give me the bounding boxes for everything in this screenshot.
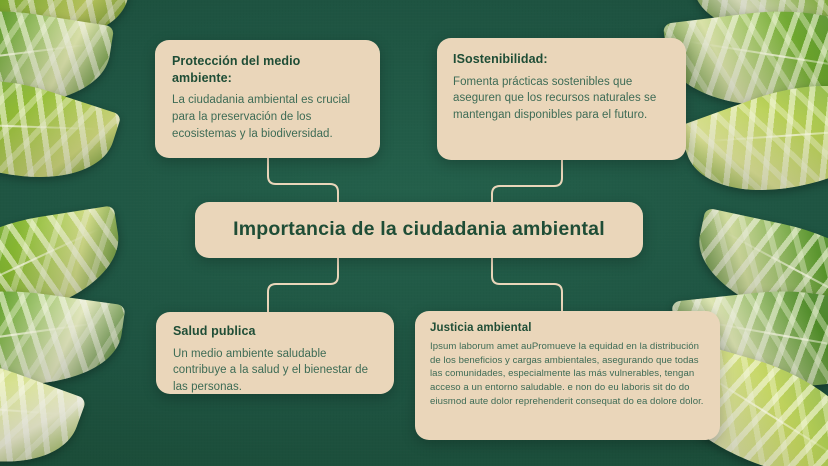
connector-center-to-justicia	[492, 258, 562, 311]
node-card-salud-publica[interactable]: Salud publica Un medio ambiente saludabl…	[156, 312, 394, 394]
central-node-card[interactable]: Importancia de la ciudadania ambiental	[195, 202, 643, 258]
node-card-sostenibilidad[interactable]: ISostenibilidad: Fomenta prácticas soste…	[437, 38, 686, 160]
node-body: Un medio ambiente saludable contribuye a…	[173, 346, 377, 396]
connector-proteccion-to-center	[268, 158, 338, 204]
node-card-proteccion[interactable]: Protección del medio ambiente: La ciudad…	[155, 40, 380, 158]
node-heading: Salud publica	[173, 323, 377, 340]
node-heading: ISostenibilidad:	[453, 51, 670, 68]
node-heading: Justicia ambiental	[430, 321, 706, 336]
connector-center-to-salud	[268, 258, 338, 312]
central-title: Importancia de la ciudadania ambiental	[233, 218, 605, 242]
node-card-justicia-ambiental[interactable]: Justicia ambiental Ipsum laborum amet au…	[415, 311, 720, 440]
node-body: Ipsum laborum amet auPromueve la equidad…	[430, 340, 706, 408]
connector-sostenibilidad-to-center	[492, 160, 562, 206]
node-body: Fomenta prácticas sostenibles que asegur…	[453, 74, 670, 124]
node-heading: Protección del medio ambiente:	[172, 53, 363, 86]
node-body: La ciudadania ambiental es crucial para …	[172, 92, 363, 142]
infographic-canvas: Protección del medio ambiente: La ciudad…	[0, 0, 828, 466]
